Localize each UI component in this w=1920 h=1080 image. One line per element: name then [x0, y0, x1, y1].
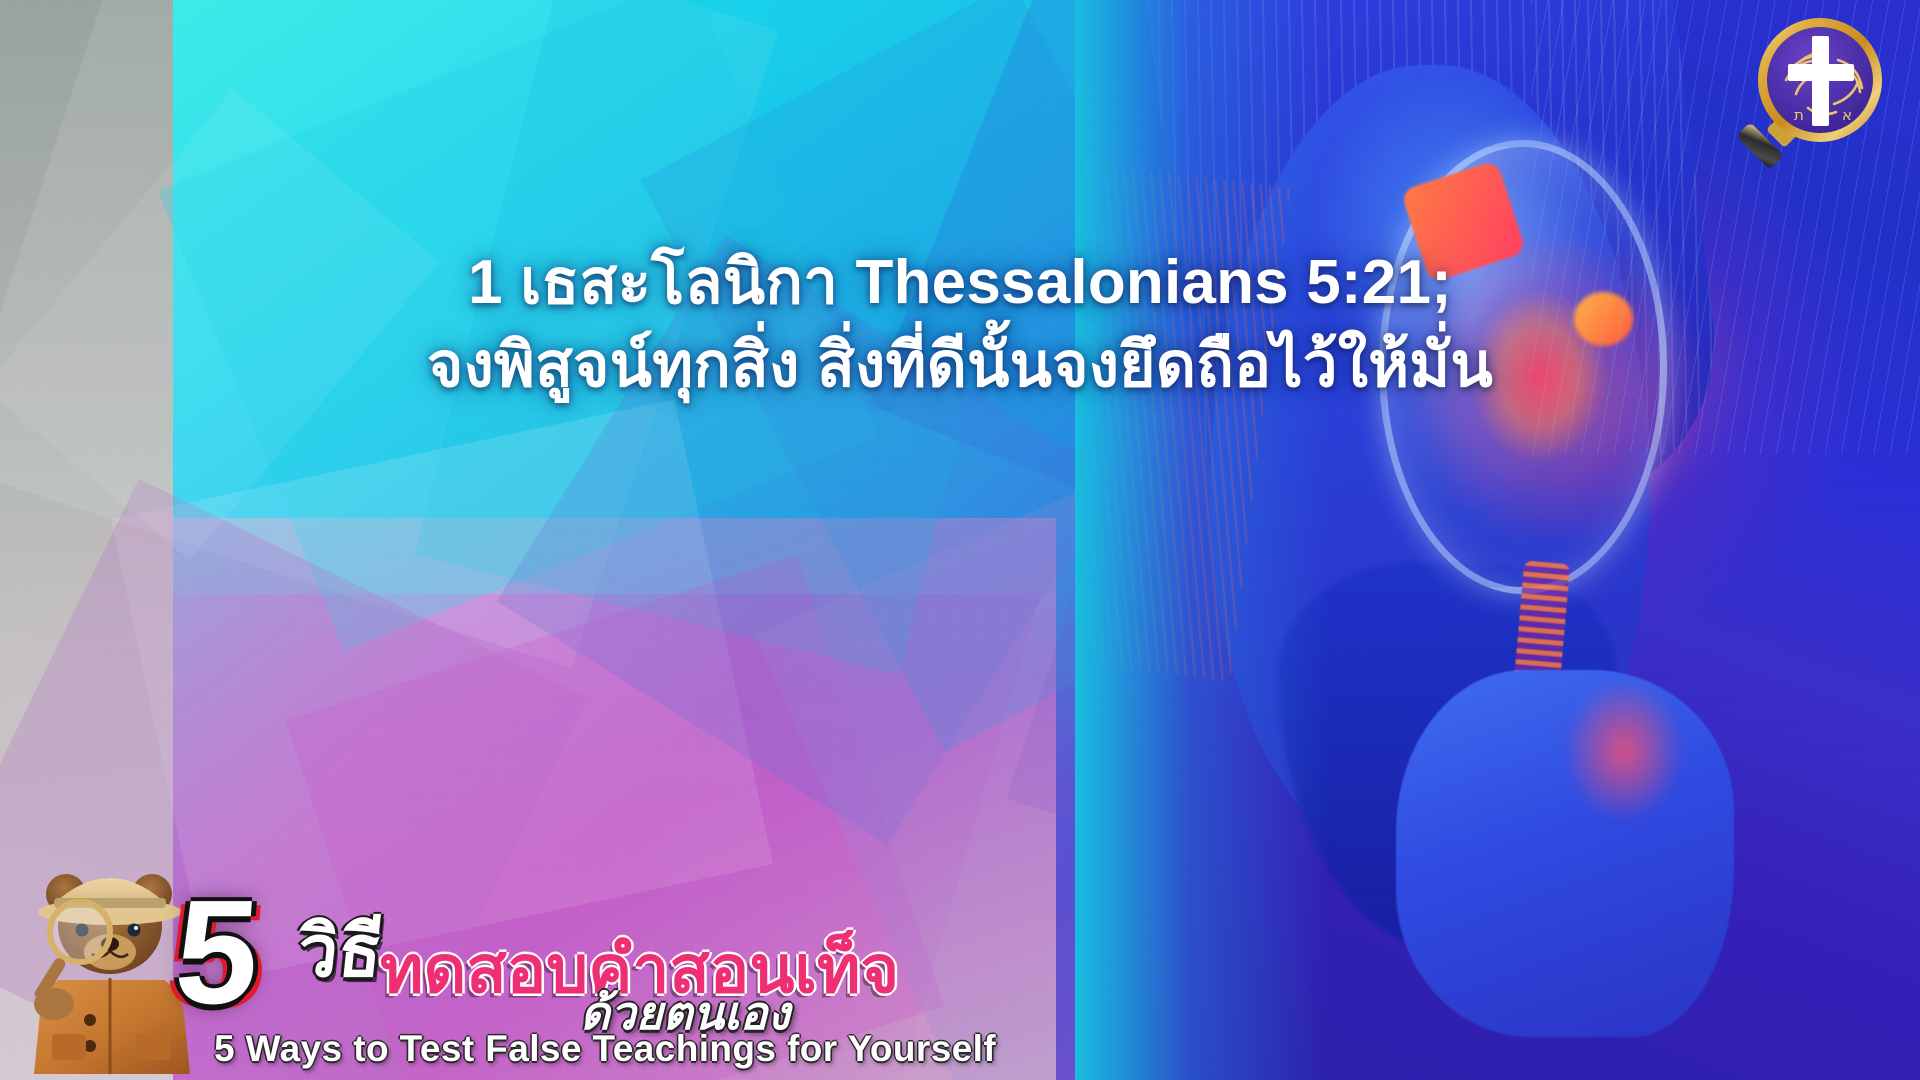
verse-reference-line: 1 เธสะโลนิกา Thessalonians 5:21; [40, 246, 1880, 319]
magnifying-glass-cross-lion-logo[interactable]: ת א [1712, 8, 1902, 198]
poster-canvas: 1 เธสะโลนิกา Thessalonians 5:21; จงพิสูจ… [0, 0, 1920, 1080]
brand-number-five: 5 [172, 889, 263, 1016]
hebrew-letter-left: ת [1794, 106, 1804, 124]
brand-banner: 5 วิธี ทดสอบคำสอนเท็จ ด้วยตนเอง 5 Ways t… [0, 820, 820, 1080]
brand-english-subtitle: 5 Ways to Test False Teachings for Yours… [214, 1028, 996, 1070]
hebrew-letter-right: א [1842, 106, 1852, 124]
verse-headline: 1 เธสะโลนิกา Thessalonians 5:21; จงพิสูจ… [0, 246, 1920, 402]
brand-thai-wi: วิธี [294, 916, 386, 988]
verse-text-line: จงพิสูจน์ทุกสิ่ง สิ่งที่ดีนั้นจงยึดถือไว… [40, 329, 1880, 402]
